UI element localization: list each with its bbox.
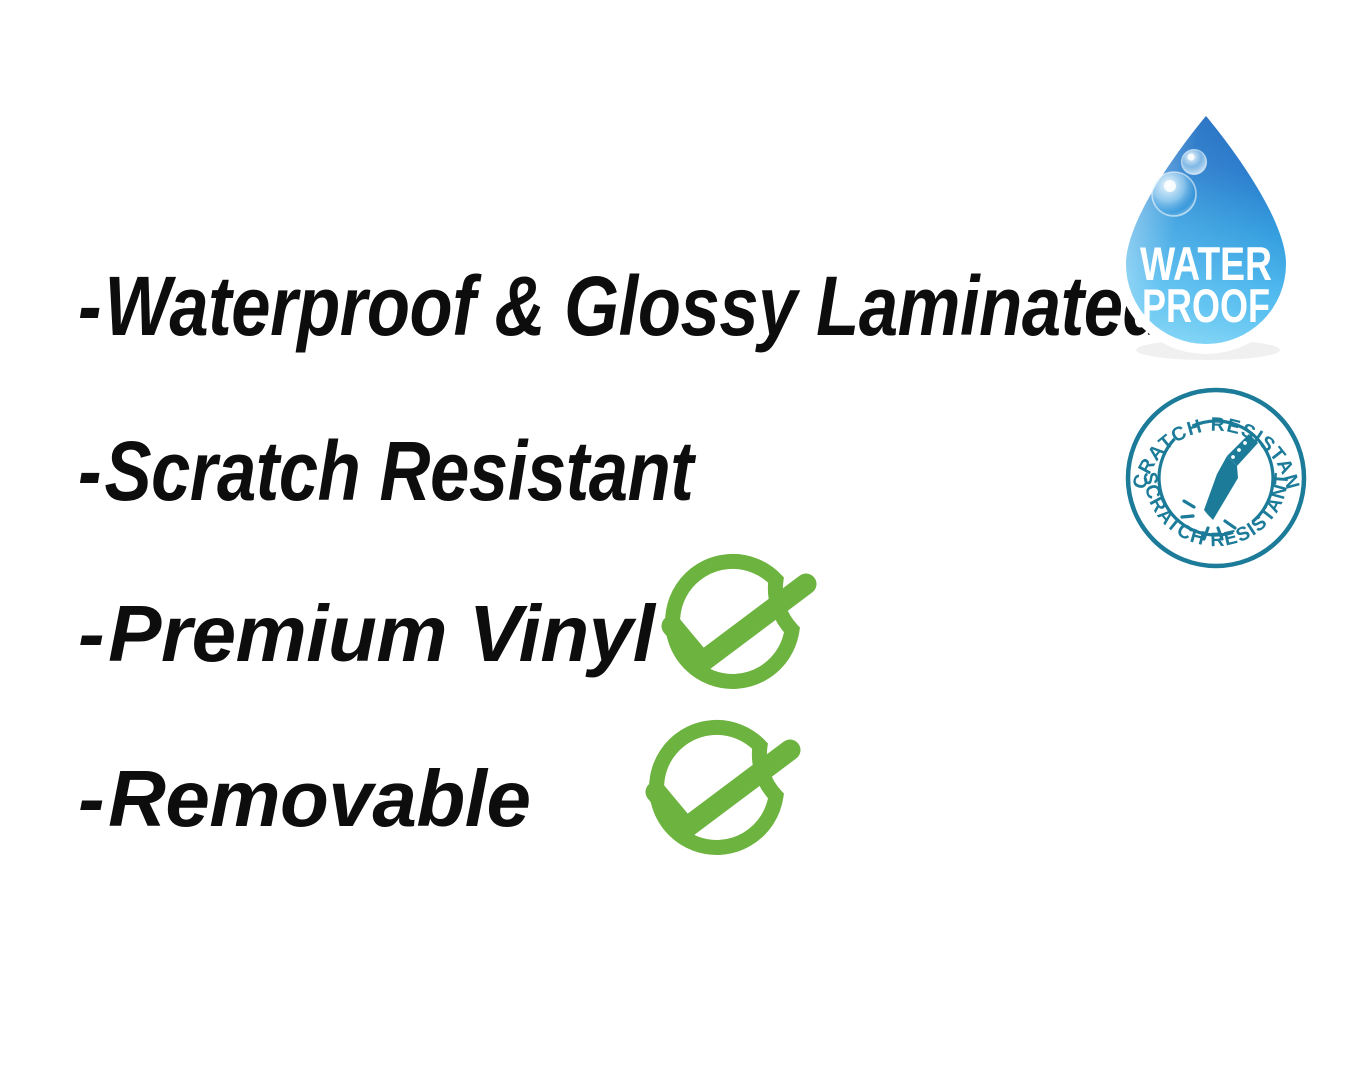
feature-list: -Waterproof & Glossy Laminated -Scratch … <box>0 0 1100 1080</box>
feature-label: Removable <box>108 754 530 843</box>
feature-label: Waterproof & Glossy Laminated <box>104 259 1165 353</box>
scratch-resistant-stamp-badge: SCRATCH RESISTANT SCRATCH RESISTANT <box>1118 382 1314 572</box>
feature-dash: - <box>78 588 104 680</box>
feature-dash: - <box>78 753 104 845</box>
product-feature-graphic: -Waterproof & Glossy Laminated -Scratch … <box>0 0 1359 1080</box>
feature-item-waterproof-glossy-laminated: -Waterproof & Glossy Laminated <box>78 258 1165 355</box>
knife-icon <box>1204 434 1258 520</box>
feature-item-scratch-resistant: -Scratch Resistant <box>78 423 693 520</box>
feature-dash: - <box>78 423 101 520</box>
feature-item-removable: -Removable <box>78 753 530 845</box>
check-mark-premium-vinyl <box>636 552 846 712</box>
bubble-small-highlight-icon <box>1188 154 1195 161</box>
bubble-large-icon <box>1152 172 1196 216</box>
feature-item-premium-vinyl: -Premium Vinyl <box>78 588 654 680</box>
waterproof-drop-badge: WATER PROOF <box>1098 98 1314 370</box>
check-mark-removable <box>620 718 830 878</box>
feature-label: Premium Vinyl <box>108 589 654 678</box>
bubble-small-icon <box>1182 150 1207 175</box>
feature-label: Scratch Resistant <box>104 424 693 518</box>
bubble-large-highlight-icon <box>1164 180 1176 192</box>
waterproof-line2: PROOF <box>1142 279 1270 332</box>
feature-dash: - <box>78 258 101 355</box>
